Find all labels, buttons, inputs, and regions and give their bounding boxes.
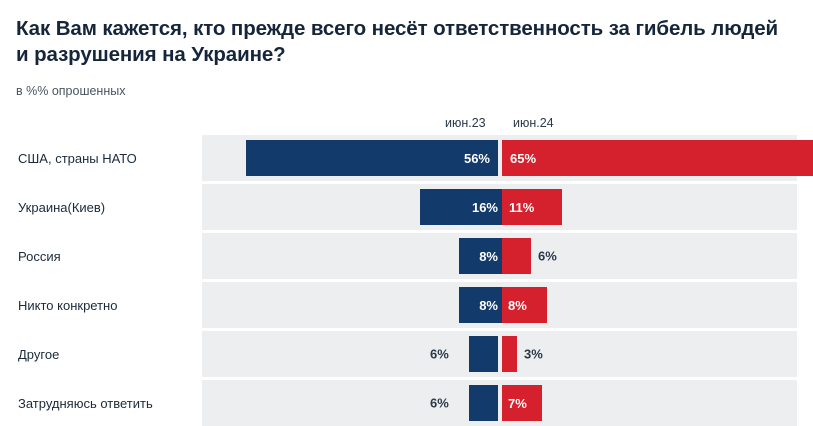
legend: июн.23 июн.24 <box>16 112 797 130</box>
bar-jun23: 8% <box>459 287 505 323</box>
bar-value-jun24: 8% <box>508 299 527 312</box>
bar-value-jun24: 65% <box>510 152 536 165</box>
table-row: Затрудняюсь ответить 6% 7% <box>16 380 797 426</box>
bar-jun23: 8% <box>459 238 505 274</box>
table-row: США, страны НАТО 56% 65% <box>16 135 797 181</box>
bar-jun23: 16% <box>420 189 506 225</box>
row-label: Другое <box>16 331 202 377</box>
table-row: Другое 6% 3% <box>16 331 797 377</box>
chart-subtitle: в %% опрошенных <box>16 84 797 98</box>
bar-jun23 <box>469 336 498 372</box>
row-track: 8% 8% <box>202 282 797 328</box>
row-label: Украина(Киев) <box>16 184 202 230</box>
row-track: 16% 11% <box>202 184 797 230</box>
bar-value-jun24: 7% <box>508 397 527 410</box>
bar-value-jun23: 8% <box>479 299 498 312</box>
bar-value-jun24: 6% <box>538 250 557 263</box>
row-label: Затрудняюсь ответить <box>16 380 202 426</box>
row-track: 8% 6% <box>202 233 797 279</box>
legend-item-jun24: июн.24 <box>513 116 554 130</box>
bar-value-jun23: 6% <box>430 348 449 361</box>
bar-jun24 <box>502 238 531 274</box>
bar-value-jun23: 56% <box>464 152 490 165</box>
table-row: Украина(Киев) 16% 11% <box>16 184 797 230</box>
bar-jun24 <box>502 336 517 372</box>
row-label: США, страны НАТО <box>16 135 202 181</box>
bar-value-jun23: 16% <box>472 201 498 214</box>
bar-jun24: 8% <box>502 287 547 323</box>
bar-jun23: 56% <box>246 140 498 176</box>
table-row: Никто конкретно 8% 8% <box>16 282 797 328</box>
bar-jun23 <box>469 385 498 421</box>
bar-value-jun23: 8% <box>479 250 498 263</box>
bar-jun24: 65% <box>502 140 813 176</box>
bar-value-jun24: 11% <box>509 201 534 214</box>
table-row: Россия 8% 6% <box>16 233 797 279</box>
bar-jun24: 11% <box>502 189 562 225</box>
row-track: 6% 3% <box>202 331 797 377</box>
row-track: 6% 7% <box>202 380 797 426</box>
page-title: Как Вам кажется, кто прежде всего несёт … <box>16 16 796 68</box>
bar-value-jun24: 3% <box>524 348 543 361</box>
bar-jun24: 7% <box>502 385 542 421</box>
chart-page: Как Вам кажется, кто прежде всего несёт … <box>0 0 813 425</box>
chart-body: США, страны НАТО 56% 65% Украина(Киев) <box>16 135 797 426</box>
row-label: Никто конкретно <box>16 282 202 328</box>
bar-value-jun23: 6% <box>430 397 449 410</box>
row-label: Россия <box>16 233 202 279</box>
row-track: 56% 65% <box>202 135 797 181</box>
legend-item-jun23: июн.23 <box>445 116 486 130</box>
